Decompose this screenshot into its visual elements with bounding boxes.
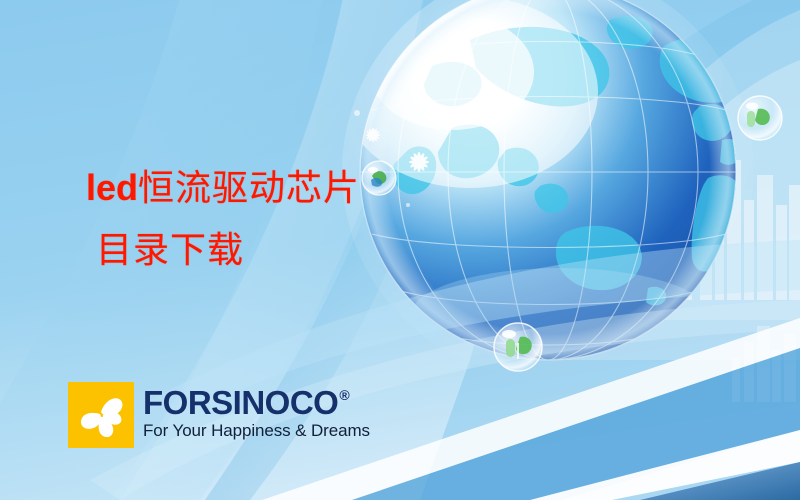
headline-latin: led [86, 167, 138, 208]
pinwheel-icon [68, 382, 134, 448]
bubble-icon [362, 161, 396, 195]
registered-trademark-icon: ® [339, 388, 349, 402]
headline-line-2: 目录下载 [96, 232, 244, 268]
logo-wordmark: FORSINOCO® For Your Happiness & Dreams [143, 382, 370, 441]
bubble-icon [738, 96, 782, 140]
logo-name-text: FORSINOCO [143, 386, 338, 420]
headline-cjk: 恒流驱动芯片 [138, 168, 360, 208]
logo-tagline: For Your Happiness & Dreams [143, 421, 370, 441]
forsinoco-logo[interactable]: FORSINOCO® For Your Happiness & Dreams [68, 382, 370, 448]
headline-line-1: led恒流驱动芯片 [86, 170, 360, 206]
promo-banner: led恒流驱动芯片 目录下载 FORSINOCO® For Your Happi… [0, 0, 800, 500]
forsinoco-pinwheel-mark [68, 382, 134, 448]
logo-company-name: FORSINOCO® [143, 386, 370, 420]
bubble-icon [494, 323, 542, 371]
